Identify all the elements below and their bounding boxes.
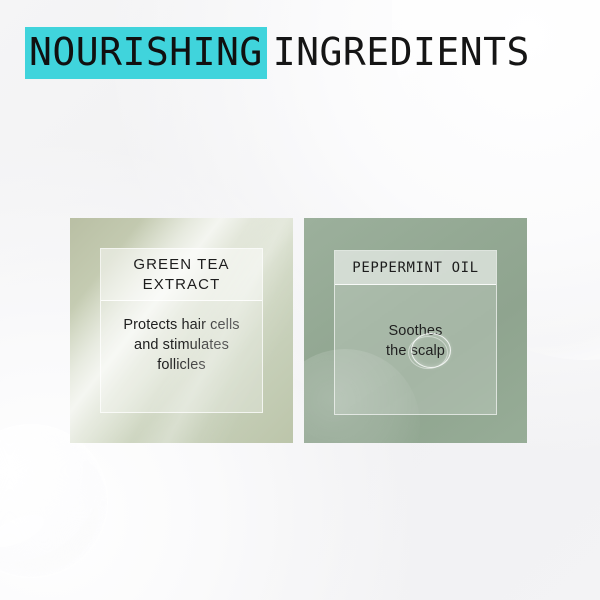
ingredient-card-peppermint-oil[interactable]: PEPPERMINT OIL Soothes the scalp [304,218,527,443]
bubble-top-right-icon [404,0,600,172]
card-panel: GREEN TEA EXTRACT Protects hair cells an… [100,248,263,413]
page-title-rest: INGREDIENTS [267,30,530,74]
card-title-peppermint-oil: PEPPERMINT OIL [335,251,496,285]
page-title: NOURISHINGINGREDIENTS [25,30,530,74]
card-body-peppermint-oil: Soothes the scalp [335,285,496,414]
ingredient-card-green-tea[interactable]: GREEN TEA EXTRACT Protects hair cells an… [70,218,293,443]
bubble-bottom-left-icon [0,424,108,578]
card-body-green-tea: Protects hair cells and stimulates folli… [101,301,262,412]
card-panel: PEPPERMINT OIL Soothes the scalp [334,250,497,415]
poster-canvas: NOURISHINGINGREDIENTS GREEN TEA EXTRACT … [0,0,600,600]
sheen-top-right-icon [392,0,600,180]
ingredient-card-list: GREEN TEA EXTRACT Protects hair cells an… [70,218,530,443]
card-title-green-tea: GREEN TEA EXTRACT [101,249,262,301]
page-title-highlight: NOURISHING [25,27,267,79]
